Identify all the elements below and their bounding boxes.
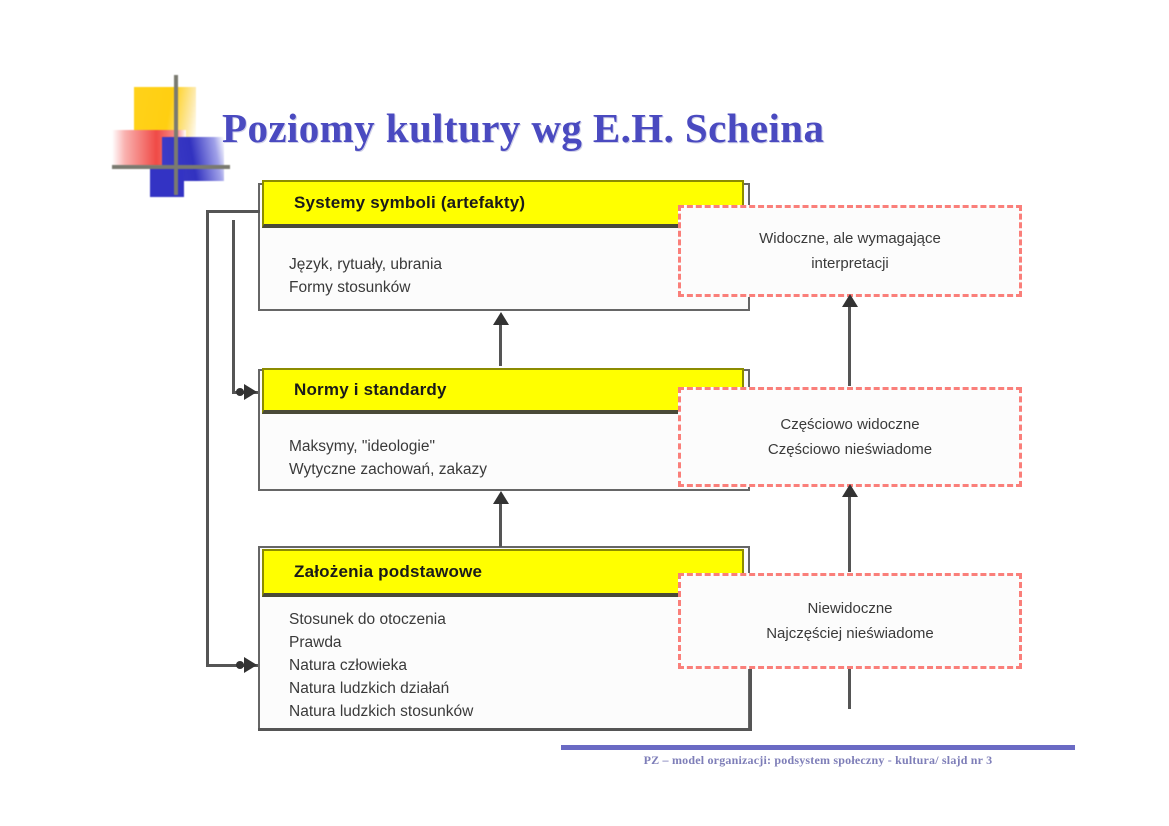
arrow-shaft-note3-to-note2 xyxy=(848,490,851,572)
arrow-shaft-zalozenia-to-normy xyxy=(499,497,502,547)
level-header-zalozenia: Założenia podstawowe xyxy=(262,549,744,597)
level-items-normy: Maksymy, "ideologie" Wytyczne zachowań, … xyxy=(289,435,487,481)
connector-top-stub-outer xyxy=(206,210,260,213)
connector-junction-dot-mid xyxy=(236,388,244,396)
level-items-zalozenia: Stosunek do otoczenia Prawda Natura czło… xyxy=(289,608,473,723)
list-item: Prawda xyxy=(289,631,473,654)
arrow-shaft-note2-to-note1 xyxy=(848,300,851,386)
arrow-head-note2-to-note1 xyxy=(842,294,858,307)
arrow-head-zalozenia-to-normy xyxy=(493,491,509,504)
note-line: Niewidoczne xyxy=(807,596,892,621)
note-box-partially-visible: Częściowo widoczne Częściowo nieświadome xyxy=(678,387,1022,487)
connector-vertical-inner xyxy=(232,220,235,392)
list-item: Natura ludzkich działań xyxy=(289,677,473,700)
connector-junction-dot-lower xyxy=(236,661,244,669)
level-header-normy: Normy i standardy xyxy=(262,368,744,414)
arrow-into-zalozenia xyxy=(244,657,257,673)
list-item: Natura człowieka xyxy=(289,654,473,677)
note-box-invisible-unconscious: Niewidoczne Najczęściej nieświadome xyxy=(678,573,1022,669)
note-box-visible-interpretation: Widoczne, ale wymagające interpretacji xyxy=(678,205,1022,297)
arrow-shaft-normy-to-artefakty xyxy=(499,318,502,366)
note-line: Widoczne, ale wymagające xyxy=(759,226,941,251)
list-item: Wytyczne zachowań, zakazy xyxy=(289,458,487,481)
arrow-into-normy xyxy=(244,384,257,400)
arrow-head-normy-to-artefakty xyxy=(493,312,509,325)
slide-canvas: Poziomy kultury wg E.H. Scheina Systemy … xyxy=(0,0,1169,826)
connector-vertical-outer xyxy=(206,210,209,666)
note-line: Częściowo widoczne xyxy=(780,412,919,437)
footer-caption: PZ – model organizacji: podsystem społec… xyxy=(561,753,1075,768)
level-items-artefakty: Język, rytuały, ubrania Formy stosunków xyxy=(289,253,442,299)
footer-divider xyxy=(561,745,1075,750)
level-header-artefakty: Systemy symboli (artefakty) xyxy=(262,180,744,228)
scheins-culture-levels-diagram: Systemy symboli (artefakty) Normy i stan… xyxy=(0,0,1169,826)
list-item: Język, rytuały, ubrania xyxy=(289,253,442,276)
connector-bottom-enclosure xyxy=(258,728,752,731)
arrow-head-note3-to-note2 xyxy=(842,484,858,497)
note-line: Najczęściej nieświadome xyxy=(766,621,934,646)
note-line: interpretacji xyxy=(811,251,889,276)
list-item: Formy stosunków xyxy=(289,276,442,299)
list-item: Stosunek do otoczenia xyxy=(289,608,473,631)
note-line: Częściowo nieświadome xyxy=(768,437,932,462)
arrow-shaft-bottom-to-note3 xyxy=(848,669,851,709)
list-item: Maksymy, "ideologie" xyxy=(289,435,487,458)
list-item: Natura ludzkich stosunków xyxy=(289,700,473,723)
